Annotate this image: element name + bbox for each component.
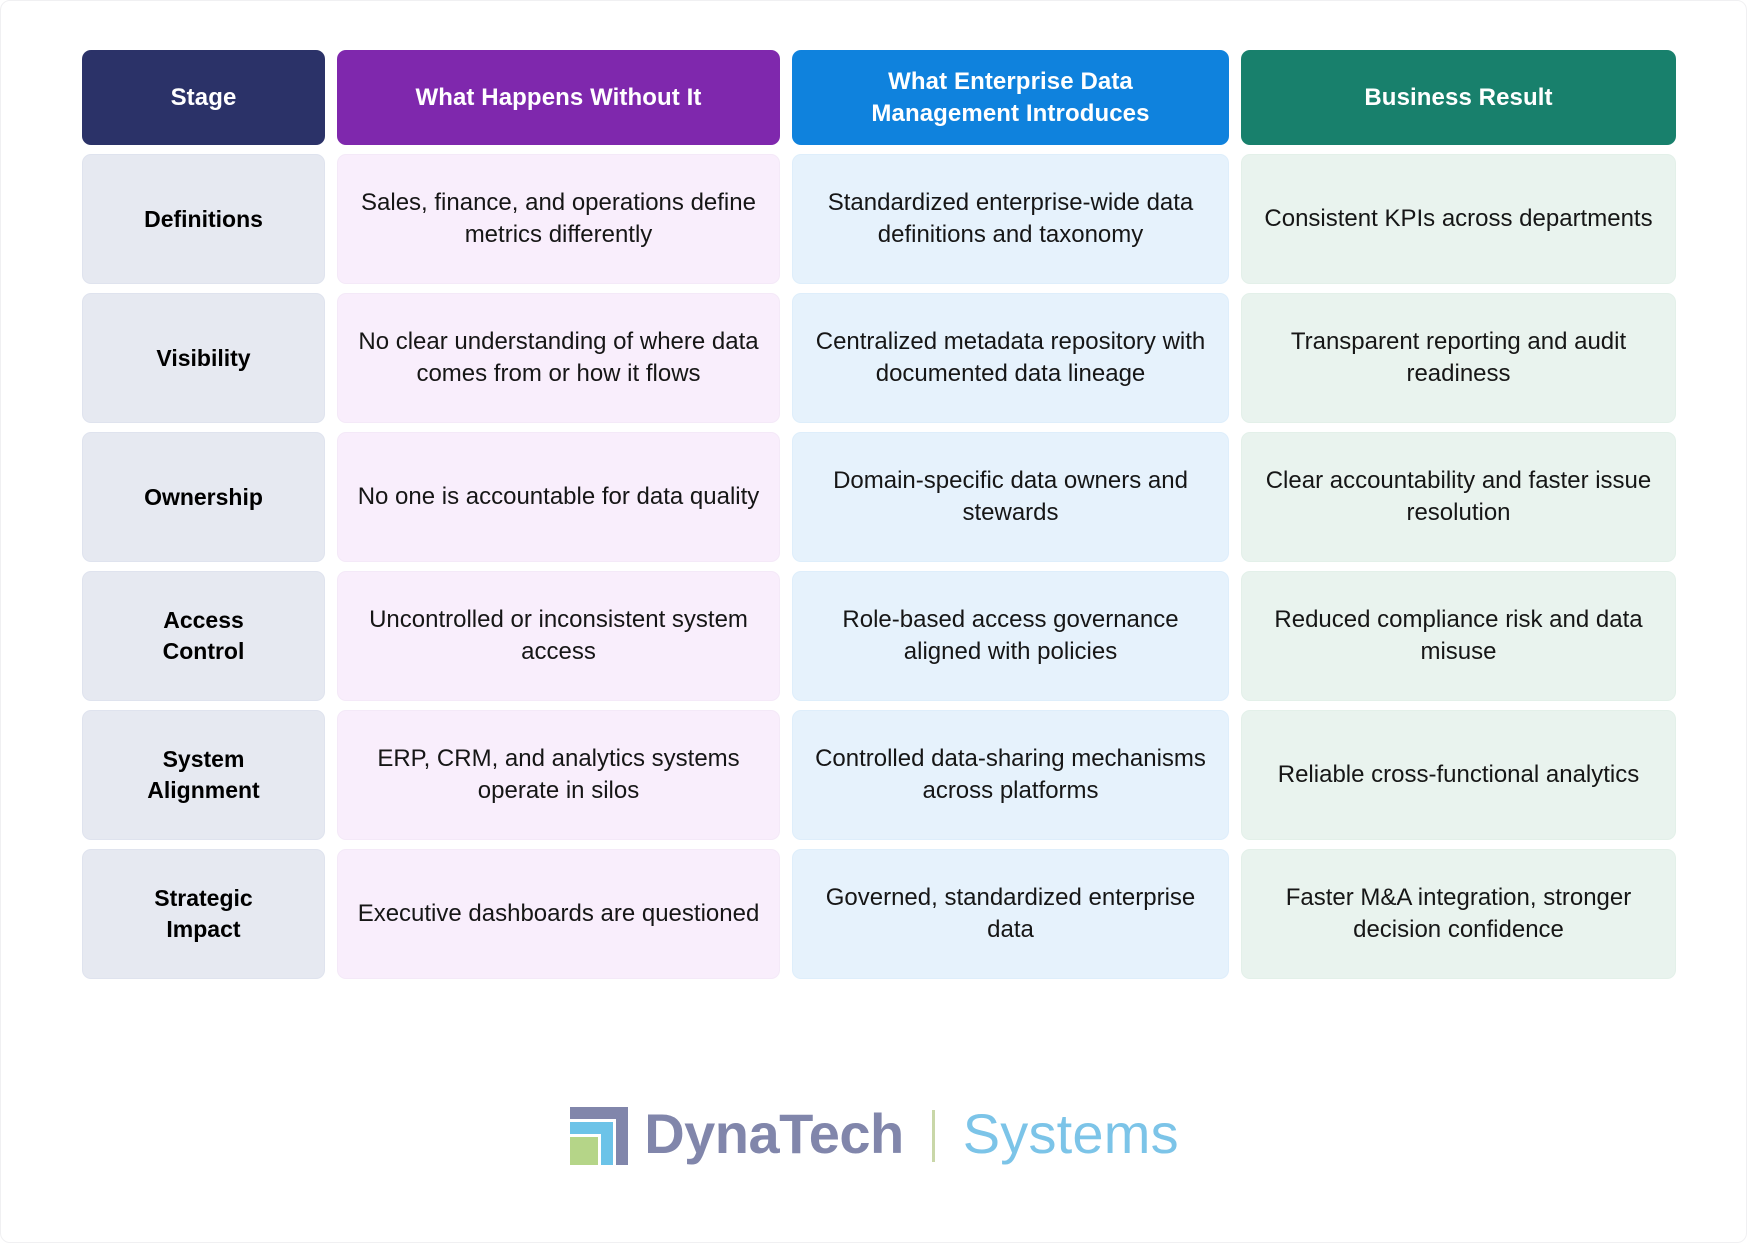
comparison-matrix: Stage What Happens Without It What Enter… xyxy=(82,50,1667,979)
table-row-introduces-cell: Role-based access governance aligned wit… xyxy=(792,571,1229,701)
table-row-without-cell: Executive dashboards are questioned xyxy=(337,849,780,979)
table-row-introduces-cell: Governed, standardized enterprise data xyxy=(792,849,1229,979)
nested-squares-logo-icon xyxy=(570,1107,628,1165)
table-row-without-cell: Sales, finance, and operations define me… xyxy=(337,154,780,284)
table-row-result-cell: Faster M&A integration, stronger decisio… xyxy=(1241,849,1676,979)
table-row-stage-cell: Definitions xyxy=(82,154,325,284)
table-row-stage-cell: Strategic Impact xyxy=(82,849,325,979)
column-header-result: Business Result xyxy=(1241,50,1676,145)
table-row-stage-cell: Ownership xyxy=(82,432,325,562)
column-header-stage-label: Stage xyxy=(171,82,237,114)
table-row-introduces-cell: Domain-specific data owners and stewards xyxy=(792,432,1229,562)
logo-subword: Systems xyxy=(963,1106,1179,1162)
table-row-without-cell: Uncontrolled or inconsistent system acce… xyxy=(337,571,780,701)
table-row-introduces-cell: Centralized metadata repository with doc… xyxy=(792,293,1229,423)
infographic-page: Stage What Happens Without It What Enter… xyxy=(0,0,1747,1243)
logo-wordmark: DynaTech xyxy=(644,1106,903,1162)
brand-logo: DynaTech Systems xyxy=(1,1107,1747,1165)
table-row-introduces-cell: Standardized enterprise-wide data defini… xyxy=(792,154,1229,284)
table-row-without-cell: No clear understanding of where data com… xyxy=(337,293,780,423)
table-row-without-cell: ERP, CRM, and analytics systems operate … xyxy=(337,710,780,840)
table-row-result-cell: Clear accountability and faster issue re… xyxy=(1241,432,1676,562)
table-row-result-cell: Reliable cross-functional analytics xyxy=(1241,710,1676,840)
table-row-stage-cell: Visibility xyxy=(82,293,325,423)
column-header-stage: Stage xyxy=(82,50,325,145)
column-header-introduces-label: What Enterprise Data Management Introduc… xyxy=(871,66,1149,129)
column-header-without-label: What Happens Without It xyxy=(415,82,701,114)
column-header-introduces: What Enterprise Data Management Introduc… xyxy=(792,50,1229,145)
table-row-result-cell: Transparent reporting and audit readines… xyxy=(1241,293,1676,423)
table-row-result-cell: Reduced compliance risk and data misuse xyxy=(1241,571,1676,701)
column-header-without: What Happens Without It xyxy=(337,50,780,145)
table-row-without-cell: No one is accountable for data quality xyxy=(337,432,780,562)
table-row-stage-cell: System Alignment xyxy=(82,710,325,840)
table-row-stage-cell: Access Control xyxy=(82,571,325,701)
column-header-result-label: Business Result xyxy=(1364,82,1552,114)
table-row-result-cell: Consistent KPIs across departments xyxy=(1241,154,1676,284)
logo-separator xyxy=(932,1110,935,1162)
table-row-introduces-cell: Controlled data-sharing mechanisms acros… xyxy=(792,710,1229,840)
